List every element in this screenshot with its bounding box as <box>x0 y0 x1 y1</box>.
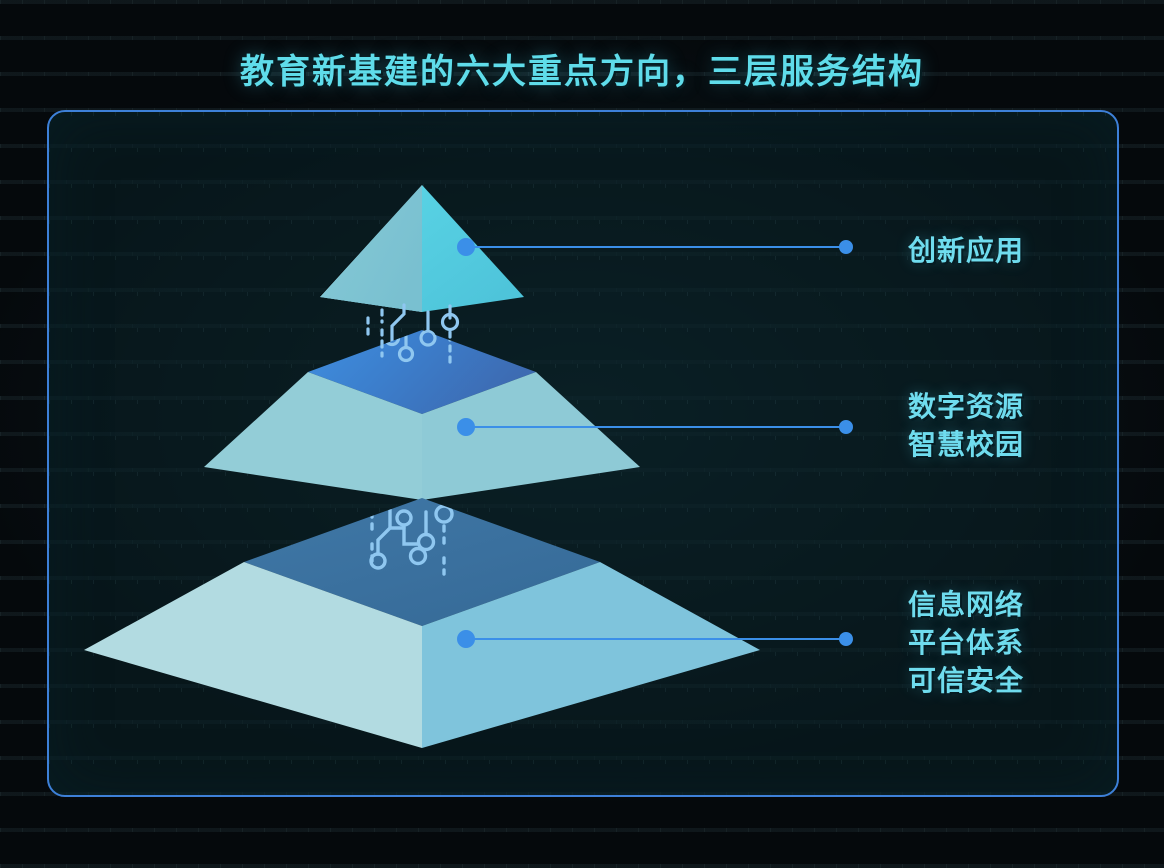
tier-3-label-line-2: 平台体系 <box>908 624 1024 662</box>
pyramid-tier-1-apex <box>320 185 524 330</box>
connector-tier-1 <box>458 239 852 255</box>
tier-1-label-line-1: 创新应用 <box>908 232 1024 270</box>
infographic-canvas: 教育新基建的六大重点方向，三层服务结构 <box>0 0 1164 868</box>
connector-dot-tier-3 <box>458 631 474 647</box>
tier-3-label-line-1: 信息网络 <box>908 586 1024 624</box>
connector-dot-tier-1 <box>458 239 474 255</box>
connector-dot-end-tier-2 <box>840 421 852 433</box>
connector-dot-end-tier-1 <box>840 241 852 253</box>
tier-1-label-group: 创新应用 <box>908 232 1024 270</box>
tier-2-label-group: 数字资源 智慧校园 <box>908 388 1024 464</box>
apex-left-wing <box>320 185 422 312</box>
tier-2-label-line-1: 数字资源 <box>908 388 1024 426</box>
connector-dot-end-tier-3 <box>840 633 852 645</box>
tier-3-label-group: 信息网络 平台体系 可信安全 <box>908 586 1024 700</box>
page-title: 教育新基建的六大重点方向，三层服务结构 <box>0 44 1164 93</box>
tier-3-label-line-3: 可信安全 <box>908 662 1024 700</box>
tier-2-label-line-2: 智慧校园 <box>908 426 1024 464</box>
connector-dot-tier-2 <box>458 419 474 435</box>
pyramid-tier-2-middle <box>204 330 640 500</box>
